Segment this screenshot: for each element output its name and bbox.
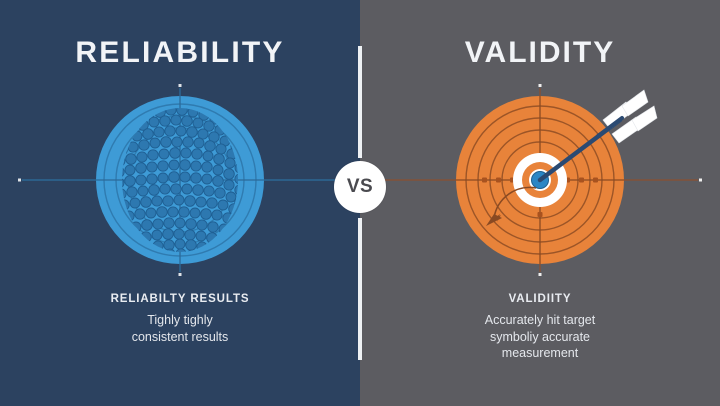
validity-caption-line-3: measurement: [360, 345, 720, 362]
reliability-caption-body: Tighly tighly consistent results: [0, 312, 360, 345]
validity-caption: VALIDIITY Accurately hit target symboliy…: [360, 293, 720, 362]
validity-caption-line-2: symboliy accurate: [360, 329, 720, 346]
reliability-title: RELIABILITY: [0, 36, 360, 70]
comparison-slide: RELIABILITY: [0, 0, 720, 406]
reliability-caption-line-1: Tighly tighly: [0, 312, 360, 329]
reliability-caption-heading: RELIABILTY RESULTS: [0, 293, 360, 305]
validity-caption-heading: VALIDIITY: [360, 293, 720, 305]
reliability-panel: RELIABILITY: [0, 0, 360, 406]
reliability-caption: RELIABILTY RESULTS Tighly tighly consist…: [0, 293, 360, 345]
reliability-target-graphic: [0, 84, 360, 276]
bullseye-arrow-target-icon: [360, 84, 720, 276]
vs-badge: VS: [334, 161, 386, 213]
validity-target-graphic: [360, 84, 720, 276]
validity-caption-line-1: Accurately hit target: [360, 312, 720, 329]
divider-segment-bottom: [358, 218, 362, 360]
validity-title: VALIDITY: [360, 36, 720, 70]
scatter-target-icon: [0, 84, 360, 276]
reliability-caption-line-2: consistent results: [0, 329, 360, 346]
validity-caption-body: Accurately hit target symboliy accurate …: [360, 312, 720, 362]
divider-segment-top: [358, 46, 362, 158]
validity-panel: VALIDITY: [360, 0, 720, 406]
